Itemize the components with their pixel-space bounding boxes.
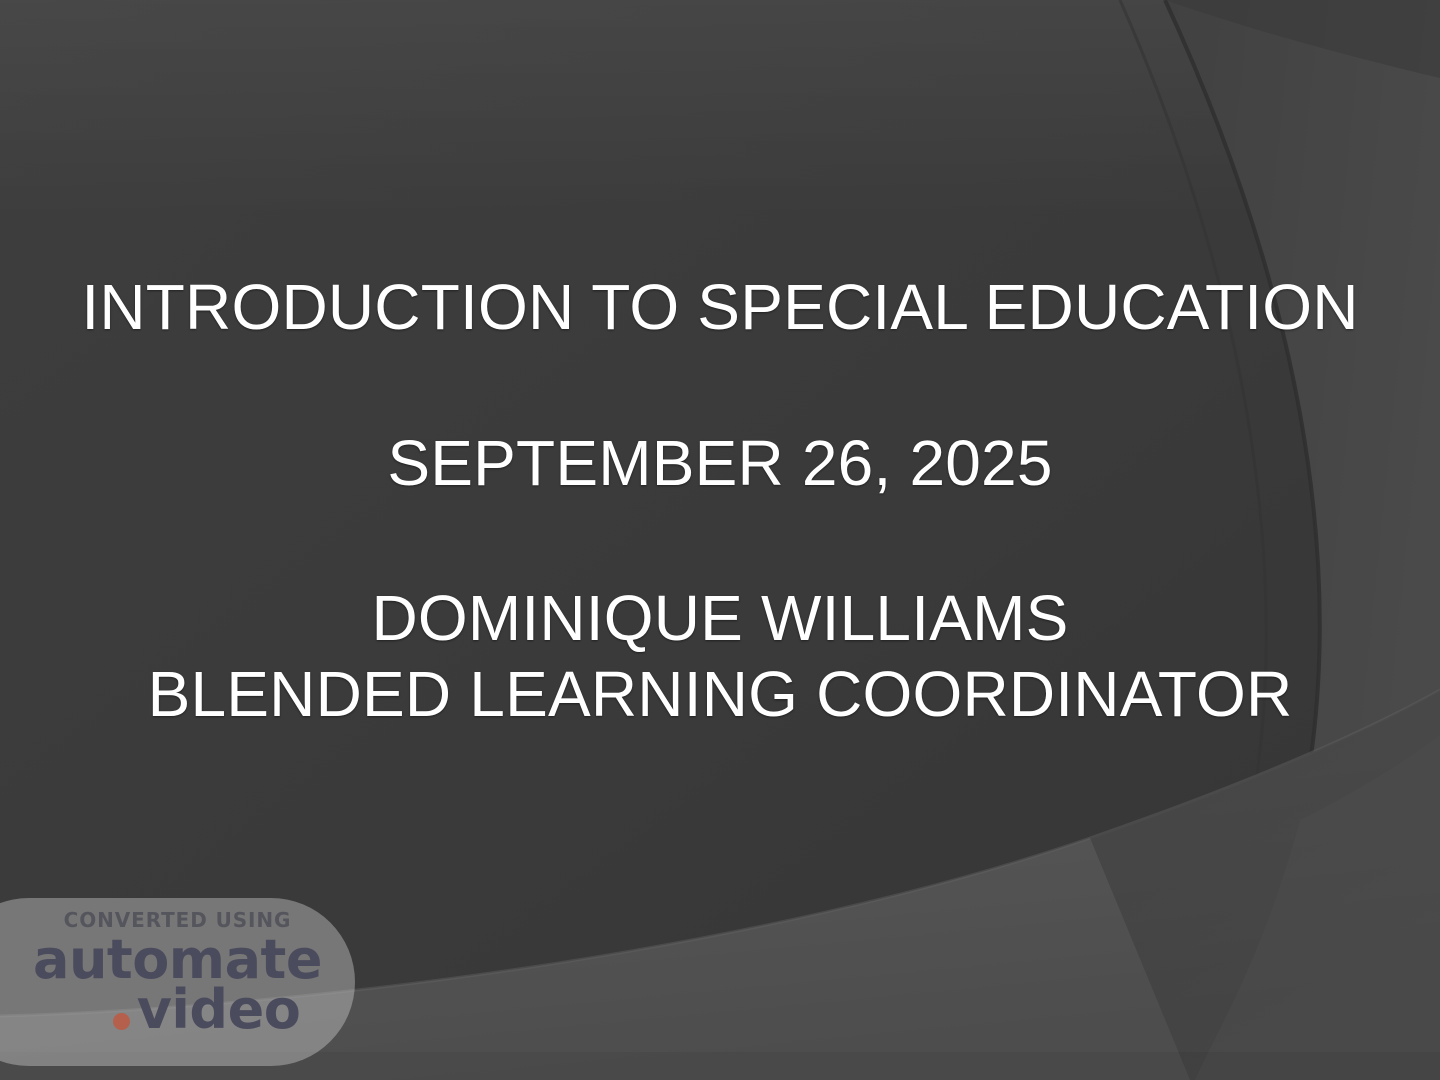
watermark-tld-wordmark: video	[137, 981, 301, 1039]
watermark-eyebrow-label: CONVERTED USING	[64, 907, 292, 933]
presentation-slide: INTRODUCTION TO SPECIAL EDUCATION SEPTEM…	[0, 0, 1440, 1080]
automate-video-watermark-badge: CONVERTED USING automate video	[0, 898, 355, 1066]
watermark-content: CONVERTED USING automate video	[0, 898, 355, 1066]
watermark-dot-icon	[113, 1013, 130, 1030]
watermark-tld-row: video	[113, 981, 301, 1039]
